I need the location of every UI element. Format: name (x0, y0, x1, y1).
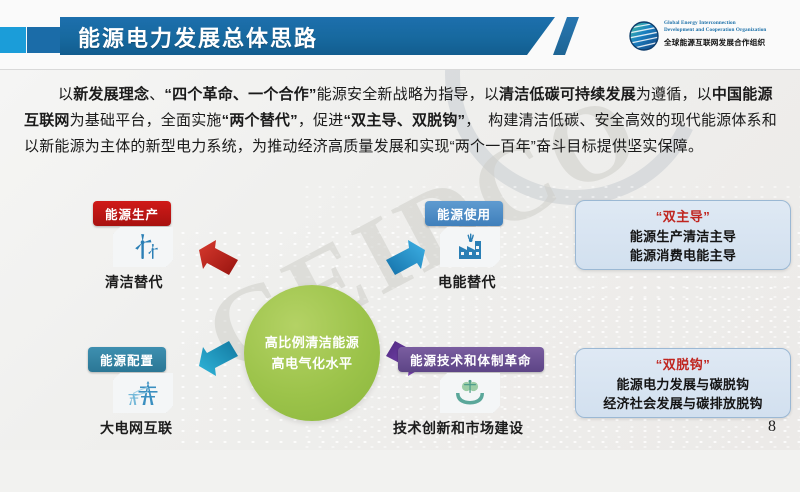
panel-dual-dominance-line-2: 能源消费电能主导 (630, 246, 736, 265)
paragraph-run: 为遵循，以 (636, 86, 712, 103)
arrow-down-left (196, 338, 242, 378)
panel-dual-decoupling-line-1: 能源电力发展与碳脱钩 (616, 375, 749, 394)
logo-text-en-line2: Development and Cooperation Organization (664, 27, 792, 34)
center-line-1: 高比例清洁能源 (265, 332, 360, 353)
badge-energy-production[interactable]: 能源生产 (93, 201, 171, 226)
caption-clean-substitution: 清洁替代 (105, 272, 163, 292)
paragraph-run: 能源安全新战略为指导，以 (317, 86, 499, 103)
header-divider (0, 69, 800, 70)
transmission-tower-icon (125, 379, 161, 407)
icon-card-energy-tech-reform[interactable] (440, 373, 500, 413)
icon-card-energy-production[interactable] (113, 227, 173, 267)
panel-dual-decoupling-line-2: 经济社会发展与碳排放脱钩 (603, 394, 763, 413)
logo-text-en-line1: Global Energy Interconnection (664, 20, 792, 27)
logo-text-chinese: 全球能源互联网发展合作组织 (664, 37, 792, 48)
panel-dual-decoupling-title: “双脱钩” (656, 354, 711, 373)
page-title: 能源电力发展总体思路 (78, 21, 318, 53)
globe-stripes-icon (628, 20, 660, 52)
hands-innovation-icon (453, 379, 487, 407)
body-paragraph: 以新发展理念、“四个革命、一个合作”能源安全新战略为指导，以清洁低碳可持续发展为… (24, 82, 780, 160)
panel-dual-dominance-line-1: 能源生产清洁主导 (630, 227, 736, 246)
icon-card-energy-use[interactable] (440, 227, 500, 267)
panel-dual-decoupling[interactable]: “双脱钩” 能源电力发展与碳脱钩 经济社会发展与碳排放脱钩 (575, 348, 791, 418)
caption-grid-interconnection: 大电网互联 (100, 418, 173, 438)
paragraph-run: “双主导、双脱钩” (343, 112, 465, 129)
factory-icon (454, 233, 486, 261)
header-accent-square-cyan (0, 27, 26, 53)
slide-header: 能源电力发展总体思路 (0, 0, 800, 70)
paragraph-run: ，促进 (298, 112, 344, 129)
panel-dual-dominance-title: “双主导” (656, 206, 711, 225)
paragraph-run: 新发展理念 (73, 86, 149, 103)
paragraph-run: 清洁低碳可持续发展 (499, 86, 636, 103)
paragraph-run: 、 (149, 86, 164, 103)
panel-dual-dominance[interactable]: “双主导” 能源生产清洁主导 能源消费电能主导 (575, 200, 791, 270)
caption-electric-substitution: 电能替代 (438, 272, 496, 292)
wind-turbine-icon (126, 233, 160, 261)
badge-energy-tech-reform[interactable]: 能源技术和体制革命 (398, 347, 544, 372)
paragraph-run: “四个革命、一个合作” (164, 86, 316, 103)
paragraph-run: “两个替代” (222, 112, 298, 129)
arrow-up-right (382, 238, 428, 278)
slide: GEIDCO 能源电力发展总体思路 (0, 0, 800, 450)
page-number: 8 (768, 418, 776, 436)
concept-diagram: 高比例清洁能源 高电气化水平 能源生产 清洁替 (0, 190, 800, 450)
paragraph-run: 以 (58, 86, 73, 103)
center-line-2: 高电气化水平 (271, 353, 352, 374)
paragraph-run: 为基础平台，全面实施 (70, 112, 222, 129)
badge-energy-allocation[interactable]: 能源配置 (88, 347, 166, 372)
arrow-up-left (196, 238, 242, 278)
logo-text-english: Global Energy Interconnection Developmen… (664, 20, 792, 34)
caption-tech-innovation-market: 技术创新和市场建设 (393, 418, 524, 438)
center-circle: 高比例清洁能源 高电气化水平 (244, 285, 380, 421)
badge-energy-use[interactable]: 能源使用 (425, 201, 503, 226)
icon-card-energy-allocation[interactable] (113, 373, 173, 413)
